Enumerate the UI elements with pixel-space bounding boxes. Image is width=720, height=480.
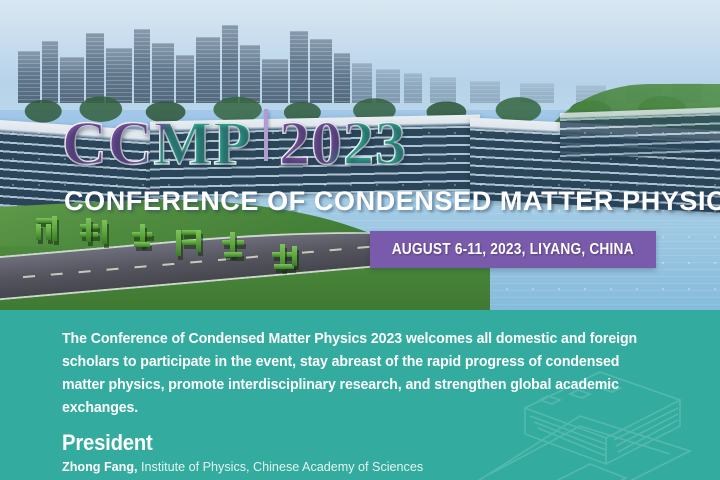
- date-location-banner: AUGUST 6-11, 2023, LIYANG, CHINA: [370, 231, 656, 268]
- conference-poster: CCMP 2023 CONFERENCE OF CONDENSED MATTER…: [0, 0, 720, 480]
- logo-year: 2023: [279, 113, 407, 175]
- logo-acronym: CCMP: [62, 113, 252, 175]
- logo-separator-icon: [264, 109, 268, 161]
- conference-logo: CCMP 2023: [62, 112, 407, 175]
- president-name: Zhong Fang,: [62, 460, 138, 474]
- date-location-text: AUGUST 6-11, 2023, LIYANG, CHINA: [392, 241, 634, 259]
- welcome-paragraph: The Conference of Condensed Matter Physi…: [62, 328, 652, 420]
- president-heading: President: [62, 430, 153, 456]
- president-entry: Zhong Fang, Institute of Physics, Chines…: [62, 460, 423, 474]
- info-panel: The Conference of Condensed Matter Physi…: [0, 310, 720, 480]
- conference-subtitle: CONFERENCE OF CONDENSED MATTER PHYSICS: [64, 186, 720, 217]
- hero-photo: CCMP 2023 CONFERENCE OF CONDENSED MATTER…: [0, 0, 720, 312]
- president-affiliation: Institute of Physics, Chinese Academy of…: [141, 460, 423, 474]
